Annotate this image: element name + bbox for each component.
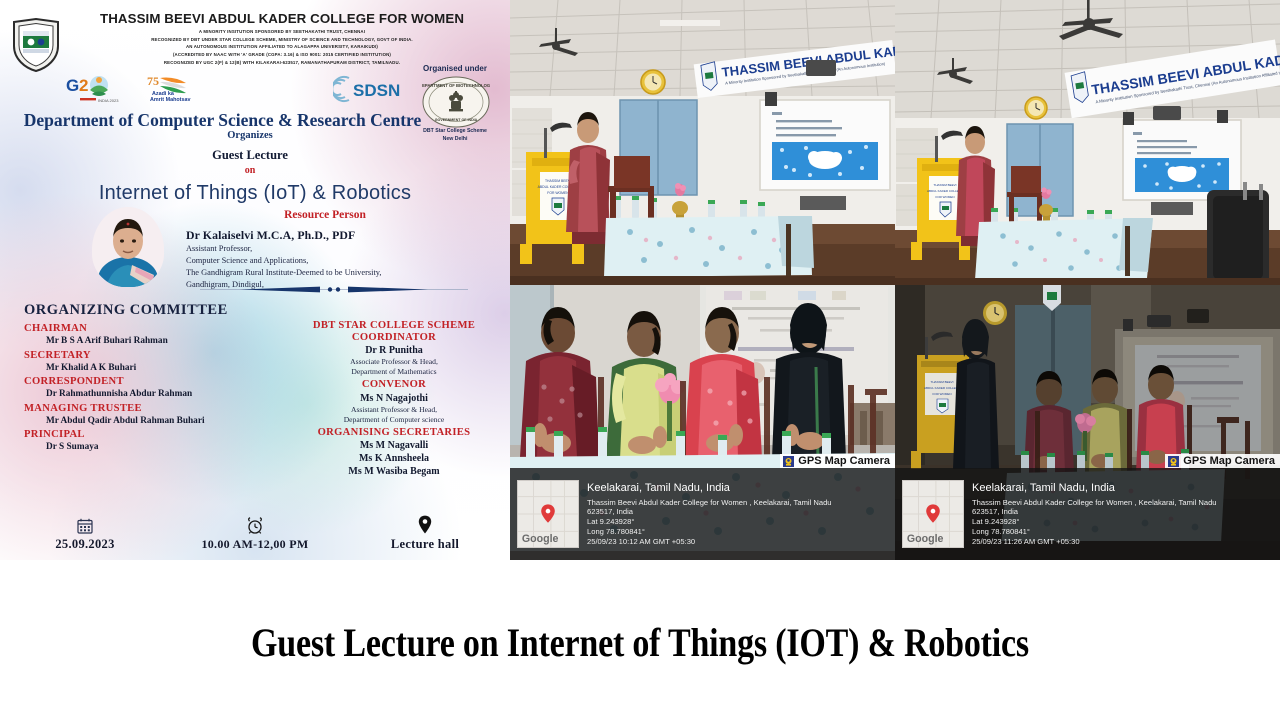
committee-entry: ORGANISING SECRETARIES Ms M Nagavalli Ms… <box>280 427 508 478</box>
svg-text:SDSN: SDSN <box>353 81 400 100</box>
gps-city: Keelakarai, Tamil Nadu, India <box>972 481 1217 495</box>
event-date-item: 25.09.2023 <box>0 512 170 552</box>
gps-map-camera-icon <box>1168 456 1179 467</box>
committee-entry: DBT STAR COLLEGE SCHEME COORDINATOR Dr R… <box>280 320 508 377</box>
event-venue-item: Lecture hall <box>340 512 510 552</box>
committee-person: Ms N Nagajothi <box>280 392 508 405</box>
svg-text:Amrit Mahotsav: Amrit Mahotsav <box>150 97 190 103</box>
on-label: on <box>0 165 500 176</box>
gps-brand-label: GPS Map Camera <box>798 455 890 467</box>
gps-details: Google Keelakarai, Tamil Nadu, India Tha… <box>895 468 1280 560</box>
committee-entry: MANAGING TRUSTEE Mr Abdul Qadir Abdul Ra… <box>24 402 274 428</box>
committee-role: SECRETARY <box>24 349 274 362</box>
committee-person: Ms K Annsheela <box>280 452 508 465</box>
alarm-clock-icon <box>170 512 340 534</box>
organised-under-label: Organised under <box>407 64 503 73</box>
affiliation-line: Computer Science and Applications, <box>186 255 486 267</box>
committee-role: CONVENOR <box>280 379 508 391</box>
svg-text:FOR WOMEN: FOR WOMEN <box>547 191 569 195</box>
resource-person-affiliation: Assistant Professor, Computer Science an… <box>186 243 486 291</box>
gps-address-line1: Thassim Beevi Abdul Kader College for Wo… <box>587 498 832 508</box>
photo-speaker-podium-angle: THASSIM BEEVI ABDUL KADER COLLEGE FOR A … <box>895 0 1280 285</box>
event-info-bar: 25.09.2023 10.00 AM <box>0 496 510 552</box>
photo-dais-guests: GPS Map Camera <box>510 285 895 560</box>
svg-text:FOR WOMEN: FOR WOMEN <box>936 195 955 199</box>
azadi-ka-amrit-mahotsav-logo-icon: 75 Azadi ka Amrit Mahotsav <box>146 72 204 106</box>
accreditation-line: RECOGNIZED BY DBT UNDER STAR COLLEGE SCH… <box>62 36 502 44</box>
college-crest-icon <box>11 18 61 72</box>
committee-role: PRINCIPAL <box>24 428 274 441</box>
photo-grid: THASSIM BEEVI ABDUL KADER COL A Minority… <box>510 0 1280 560</box>
committee-entry: CHAIRMAN Mr B S A Arif Buhari Rahman <box>24 322 274 348</box>
accreditation-line: (ACCREDITED BY NAAC WITH 'A' GRADE (CGPA… <box>62 51 502 59</box>
slide-page: THASSIM BEEVI ABDUL KADER COLLEGE FOR WO… <box>0 0 1280 720</box>
gps-map-thumbnail[interactable]: Google <box>902 480 964 548</box>
svg-text:THASSIM BEEVI: THASSIM BEEVI <box>930 380 953 384</box>
resource-person-label: Resource Person <box>180 209 470 221</box>
gps-brand-bar: GPS Map Camera <box>1165 454 1280 468</box>
svg-text:INDIA 2023: INDIA 2023 <box>98 98 119 103</box>
committee-subtitle: Associate Professor & Head, <box>280 357 508 367</box>
event-time: 10.00 AM-12,00 PM <box>170 537 340 552</box>
caption-text: Guest Lecture on Internet of Things (IOT… <box>251 622 1029 667</box>
sdsn-logo-icon: SDSN <box>333 74 425 104</box>
svg-text:Google: Google <box>522 533 559 545</box>
svg-text:2: 2 <box>79 76 88 95</box>
affiliation-line: Assistant Professor, <box>186 243 486 255</box>
event-poster: THASSIM BEEVI ABDUL KADER COLLEGE FOR WO… <box>0 0 510 560</box>
organizing-committee-title: ORGANIZING COMMITTEE <box>24 302 228 319</box>
svg-text:G: G <box>66 76 79 95</box>
photo-speaker-podium-wide: THASSIM BEEVI ABDUL KADER COL A Minority… <box>510 0 895 285</box>
committee-role: ORGANISING SECRETARIES <box>280 427 508 439</box>
svg-text:DEPARTMENT OF BIOTECHNOLOGY: DEPARTMENT OF BIOTECHNOLOGY <box>422 83 490 88</box>
gps-timestamp: 25/09/23 11:26 AM GMT +05:30 <box>972 537 1217 547</box>
committee-person: Mr B S A Arif Buhari Rahman <box>24 335 274 347</box>
committee-person: Ms M Nagavalli <box>280 439 508 452</box>
gps-longitude: Long 78.780841° <box>587 527 832 537</box>
calendar-icon <box>0 512 170 534</box>
gps-address-line1: Thassim Beevi Abdul Kader College for Wo… <box>972 498 1217 508</box>
svg-text:ABDUL KADER COLLEGE: ABDUL KADER COLLEGE <box>927 189 963 193</box>
svg-text:75: 75 <box>147 74 159 88</box>
event-topic: Internet of Things (IoT) & Robotics <box>0 182 510 205</box>
committee-right-column: DBT STAR COLLEGE SCHEME COORDINATOR Dr R… <box>280 320 508 480</box>
content-area: THASSIM BEEVI ABDUL KADER COLLEGE FOR WO… <box>0 0 1280 560</box>
svg-text:ABDUL KADER COLLEGE: ABDUL KADER COLLEGE <box>924 386 960 390</box>
gps-brand-label: GPS Map Camera <box>1183 455 1275 467</box>
gps-city: Keelakarai, Tamil Nadu, India <box>587 481 832 495</box>
affiliation-line: The Gandhigram Rural Institute-Deemed to… <box>186 267 486 279</box>
event-date: 25.09.2023 <box>0 537 170 552</box>
gps-address-line2: 623517, India <box>587 507 832 517</box>
location-pin-icon <box>340 512 510 534</box>
committee-role: CORRESPONDENT <box>24 375 274 388</box>
gps-map-thumbnail[interactable]: Google <box>517 480 579 548</box>
event-venue: Lecture hall <box>340 537 510 552</box>
college-name: THASSIM BEEVI ABDUL KADER COLLEGE FOR WO… <box>62 11 502 26</box>
gps-latitude: Lat 9.243928° <box>587 517 832 527</box>
gps-location-info: Keelakarai, Tamil Nadu, India Thassim Be… <box>587 481 832 547</box>
gps-longitude: Long 78.780841° <box>972 527 1217 537</box>
committee-person: Mr Khalid A K Buhari <box>24 362 274 374</box>
committee-person: Dr Rahmathunnisha Abdur Rahman <box>24 388 274 400</box>
accreditation-line: A MINORITY INSITUTION SPONSORED BY SEETH… <box>62 28 502 36</box>
committee-person: Dr S Sumaya <box>24 441 274 453</box>
event-type-label: Guest Lecture <box>0 148 500 163</box>
gps-location-info: Keelakarai, Tamil Nadu, India Thassim Be… <box>972 481 1217 547</box>
accreditation-block: A MINORITY INSITUTION SPONSORED BY SEETH… <box>62 28 502 67</box>
gps-map-camera-icon <box>783 456 794 467</box>
committee-entry: SECRETARY Mr Khalid A K Buhari <box>24 349 274 375</box>
committee-entry: CONVENOR Ms N Nagajothi Assistant Profes… <box>280 379 508 424</box>
resource-person-name: Dr Kalaiselvi M.C.A, Ph.D., PDF <box>186 228 355 243</box>
accreditation-line: AN AUTONOMOUS INSTITUTION AFFILIATED TO … <box>62 43 502 51</box>
decorative-divider <box>200 285 468 294</box>
department-title: Department of Computer Science & Researc… <box>0 110 445 131</box>
event-time-item: 10.00 AM-12,00 PM <box>170 512 340 552</box>
committee-entry: PRINCIPAL Dr S Sumaya <box>24 428 274 454</box>
gps-timestamp: 25/09/23 10:12 AM GMT +05:30 <box>587 537 832 547</box>
svg-text:FOR WOMEN: FOR WOMEN <box>933 392 952 396</box>
slide-caption: Guest Lecture on Internet of Things (IOT… <box>0 560 1280 720</box>
photo-compere-podium-dark: THASSIM BEEVI ABDUL KADER COLLEGE FOR WO… <box>895 285 1280 560</box>
organizes-label: Organizes <box>0 130 500 141</box>
committee-subtitle: Department of Mathematics <box>280 367 508 377</box>
gps-latitude: Lat 9.243928° <box>972 517 1217 527</box>
committee-role: DBT STAR COLLEGE SCHEME COORDINATOR <box>280 320 508 344</box>
logo-strip: G 2 INDIA 2023 75 <box>0 70 430 108</box>
committee-entry: CORRESPONDENT Dr Rahmathunnisha Abdur Ra… <box>24 375 274 401</box>
committee-left-column: CHAIRMAN Mr B S A Arif Buhari Rahman SEC… <box>24 322 274 455</box>
committee-subtitle: Department of Computer science <box>280 415 508 425</box>
resource-person-avatar <box>92 207 164 287</box>
gps-brand-bar: GPS Map Camera <box>780 454 895 468</box>
gps-details: Google Keelakarai, Tamil Nadu, India Tha… <box>510 468 895 560</box>
committee-person: Dr R Punitha <box>280 344 508 357</box>
svg-text:THASSIM BEEVI: THASSIM BEEVI <box>933 183 956 187</box>
committee-person: Mr Abdul Qadir Abdul Rahman Buhari <box>24 415 274 427</box>
committee-person: Ms M Wasiba Begam <box>280 465 508 478</box>
g20-logo-icon: G 2 INDIA 2023 <box>66 72 128 106</box>
svg-text:Google: Google <box>907 533 944 545</box>
committee-subtitle: Assistant Professor & Head, <box>280 405 508 415</box>
svg-text:THASSIM BEEVI: THASSIM BEEVI <box>545 179 571 183</box>
gps-address-line2: 623517, India <box>972 507 1217 517</box>
committee-role: MANAGING TRUSTEE <box>24 402 274 415</box>
committee-role: CHAIRMAN <box>24 322 274 335</box>
